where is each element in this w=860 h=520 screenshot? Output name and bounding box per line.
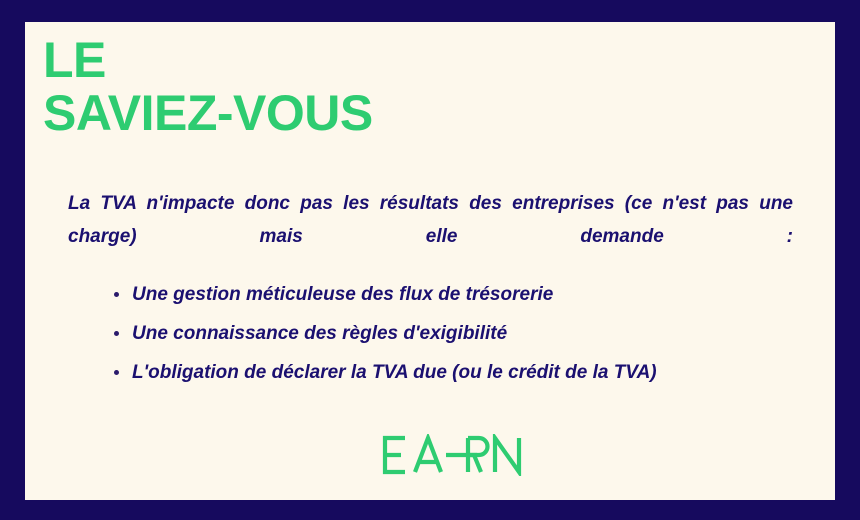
list-item: L'obligation de déclarer la TVA due (ou … — [92, 358, 792, 389]
list-item-label: L'obligation de déclarer la TVA due (ou … — [132, 362, 657, 383]
list-item-label: Une connaissance des règles d'exigibilit… — [132, 323, 507, 344]
list-item: Une connaissance des règles d'exigibilit… — [92, 319, 792, 350]
bullet-dot-icon — [114, 370, 119, 375]
slide-canvas: LE SAVIEZ-VOUS La TVA n'impacte donc pas… — [0, 0, 860, 520]
requirements-list: Une gestion méticuleuse des flux de trés… — [92, 280, 792, 396]
content-panel: LE SAVIEZ-VOUS La TVA n'impacte donc pas… — [25, 22, 835, 500]
list-item-label: Une gestion méticuleuse des flux de trés… — [132, 284, 553, 305]
page-title: LE SAVIEZ-VOUS — [43, 34, 373, 140]
earn-logo: EARN — [380, 434, 530, 476]
intro-paragraph: La TVA n'impacte donc pas les résultats … — [68, 188, 793, 286]
bullet-dot-icon — [114, 292, 119, 297]
bullet-dot-icon — [114, 331, 119, 336]
list-item: Une gestion méticuleuse des flux de trés… — [92, 280, 792, 311]
